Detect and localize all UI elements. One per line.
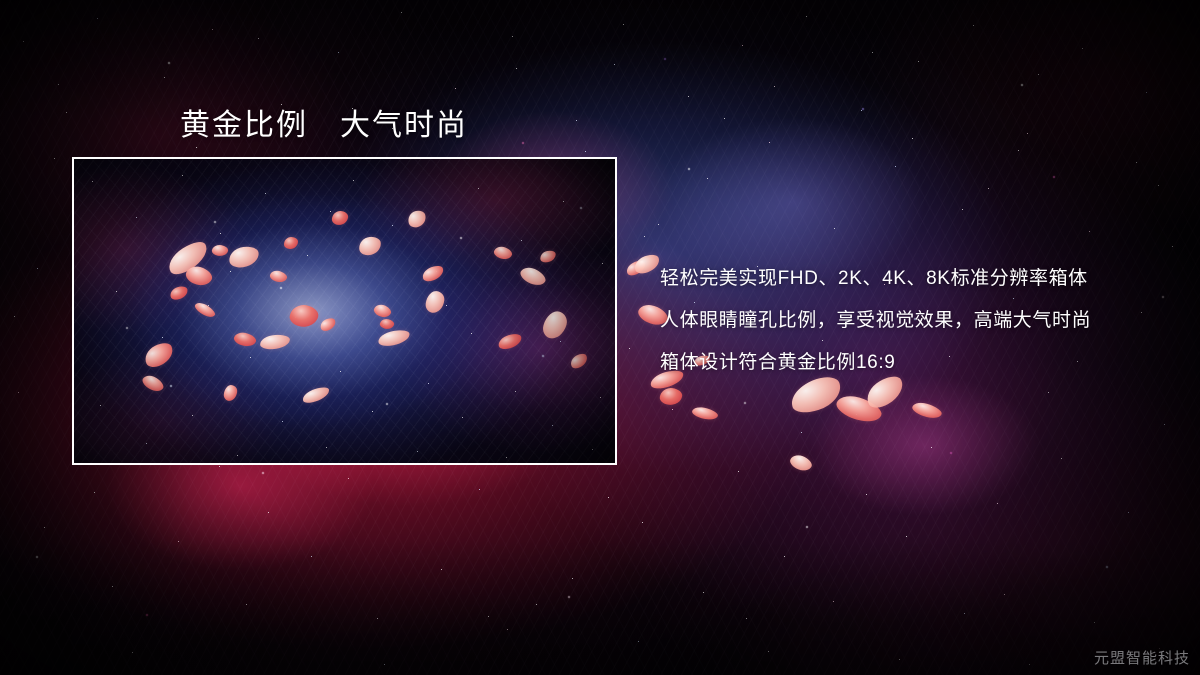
description-line-1: 轻松完美实现FHD、2K、4K、8K标准分辨率箱体 — [660, 258, 1180, 300]
framed-image-panel[interactable] — [72, 157, 617, 465]
page-title: 黄金比例 大气时尚 — [180, 100, 468, 144]
presentation-slide: 黄金比例 大气时尚 轻松完美实现FHD、2K、4K、8K标准分辨率箱体 人体眼睛… — [0, 0, 1200, 675]
description-line-2: 人体眼睛瞳孔比例，享受视觉效果，高端大气时尚 — [660, 300, 1180, 342]
description-line-3: 箱体设计符合黄金比例16:9 — [660, 342, 1180, 384]
panel-vignette — [74, 159, 615, 463]
description-text-block: 轻松完美实现FHD、2K、4K、8K标准分辨率箱体 人体眼睛瞳孔比例，享受视觉效… — [660, 258, 1180, 384]
watermark-label: 元盟智能科技 — [1094, 647, 1190, 668]
